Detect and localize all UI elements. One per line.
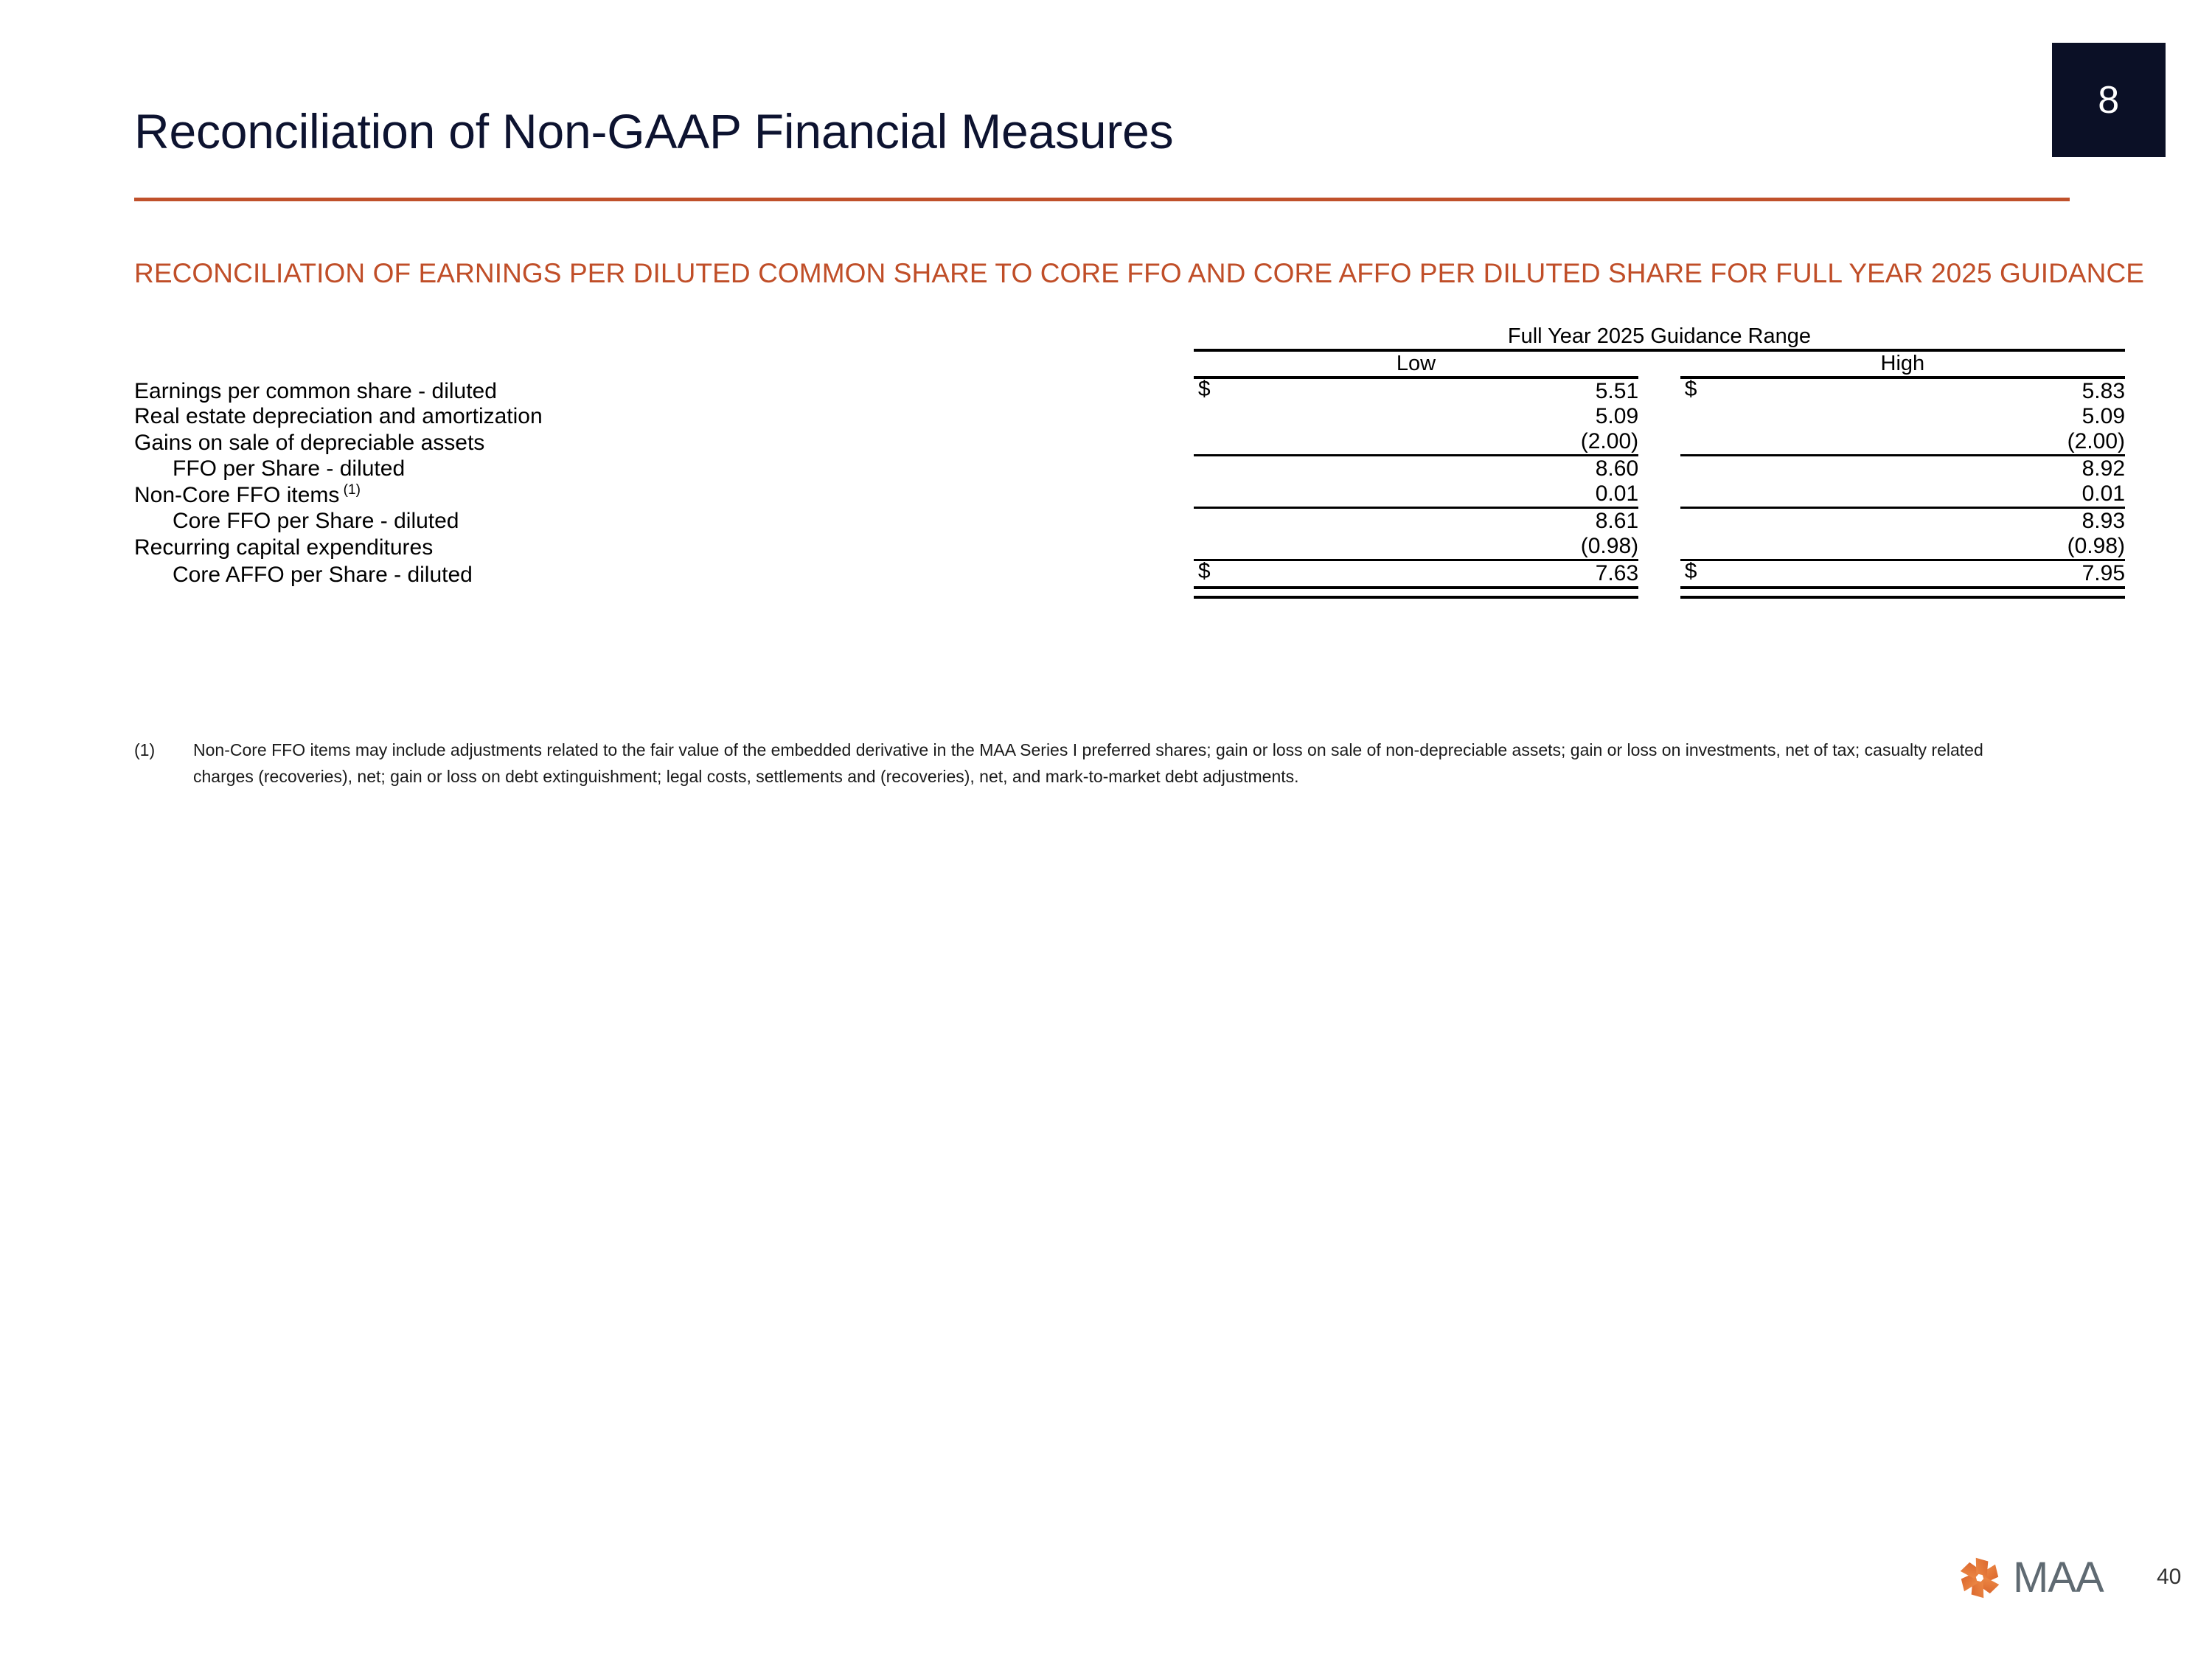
spacer — [1638, 378, 1680, 404]
maa-logo: MAA — [1954, 1552, 2104, 1604]
spacer — [1638, 508, 1680, 535]
cell-value: 5.09 — [2082, 404, 2125, 428]
spacer — [1638, 429, 1680, 456]
table-row: FFO per Share - diluted8.608.92 — [134, 456, 2125, 482]
cell-high: 5.09 — [1680, 404, 2125, 429]
cell-high: 0.01 — [1680, 481, 2125, 508]
footnote: (1) Non-Core FFO items may include adjus… — [134, 737, 2007, 790]
spacer — [1182, 456, 1194, 482]
currency-symbol: $ — [1198, 377, 1211, 402]
spacer — [1638, 404, 1680, 429]
cell-value: 5.51 — [1596, 379, 1638, 403]
row-label: Core FFO per Share - diluted — [134, 508, 1182, 535]
row-label: Earnings per common share - diluted — [134, 378, 1182, 404]
table-row: Gains on sale of depreciable assets(2.00… — [134, 429, 2125, 456]
cell-low: $7.63 — [1194, 560, 1638, 588]
table-row: Earnings per common share - diluted$5.51… — [134, 378, 2125, 404]
page-badge-number: 8 — [2098, 78, 2119, 122]
section-heading: RECONCILIATION OF EARNINGS PER DILUTED C… — [134, 258, 2144, 289]
cell-low: 0.01 — [1194, 481, 1638, 508]
table-body: Earnings per common share - diluted$5.51… — [134, 378, 2125, 597]
cell-low: $5.51 — [1194, 378, 1638, 404]
cell-value: 5.09 — [1596, 404, 1638, 428]
page-badge: 8 — [2052, 43, 2166, 157]
table-column-header-row: Low High — [134, 350, 2125, 378]
cell-high: 8.92 — [1680, 456, 2125, 482]
cell-value: 7.63 — [1596, 561, 1638, 585]
row-label: Core AFFO per Share - diluted — [134, 560, 1182, 588]
table-group-header-row: Full Year 2025 Guidance Range — [134, 324, 2125, 350]
cell-low: 8.60 — [1194, 456, 1638, 482]
spacer — [1638, 560, 1680, 588]
currency-symbol: $ — [1685, 377, 1697, 402]
cell-value: (0.98) — [2067, 534, 2125, 558]
footnote-marker: (1) — [134, 737, 155, 764]
reconciliation-table: Full Year 2025 Guidance Range Low High E… — [134, 324, 2125, 599]
cell-value: (0.98) — [1581, 534, 1638, 558]
table-group-header: Full Year 2025 Guidance Range — [1194, 324, 2125, 350]
slide-root: 8 Reconciliation of Non-GAAP Financial M… — [0, 0, 2212, 1659]
cell-value: 7.95 — [2082, 561, 2125, 585]
table-row: Non-Core FFO items (1)0.010.01 — [134, 481, 2125, 508]
spacer — [1182, 378, 1194, 404]
footnote-reference: (1) — [339, 482, 361, 498]
spacer — [1182, 429, 1194, 456]
spacer — [1182, 560, 1194, 588]
page-title: Reconciliation of Non-GAAP Financial Mea… — [134, 103, 1173, 159]
spacer — [1182, 534, 1194, 560]
page-number: 40 — [2157, 1565, 2181, 1590]
spacer — [1182, 404, 1194, 429]
cell-high: $5.83 — [1680, 378, 2125, 404]
spacer — [1182, 481, 1194, 508]
row-label: Recurring capital expenditures — [134, 534, 1182, 560]
maa-flower-icon — [1954, 1552, 2006, 1604]
cell-value: (2.00) — [2067, 429, 2125, 453]
column-header-low: Low — [1194, 350, 1638, 378]
table-row: Real estate depreciation and amortizatio… — [134, 404, 2125, 429]
cell-value: 8.93 — [2082, 509, 2125, 533]
cell-value: 8.60 — [1596, 456, 1638, 481]
table-row: Recurring capital expenditures(0.98)(0.9… — [134, 534, 2125, 560]
row-label: Real estate depreciation and amortizatio… — [134, 404, 1182, 429]
cell-high: 8.93 — [1680, 508, 2125, 535]
cell-value: 5.83 — [2082, 379, 2125, 403]
row-label: Gains on sale of depreciable assets — [134, 429, 1182, 456]
currency-symbol: $ — [1198, 559, 1211, 584]
spacer — [1638, 481, 1680, 508]
cell-value: (2.00) — [1581, 429, 1638, 453]
table-row: Core AFFO per Share - diluted$7.63$7.95 — [134, 560, 2125, 588]
cell-high: (0.98) — [1680, 534, 2125, 560]
cell-low: (0.98) — [1194, 534, 1638, 560]
spacer — [1638, 534, 1680, 560]
cell-high: (2.00) — [1680, 429, 2125, 456]
row-label: FFO per Share - diluted — [134, 456, 1182, 482]
cell-low: (2.00) — [1194, 429, 1638, 456]
cell-high: $7.95 — [1680, 560, 2125, 588]
title-divider — [134, 198, 2070, 201]
table-total-double-rule — [134, 588, 2125, 597]
cell-low: 5.09 — [1194, 404, 1638, 429]
cell-value: 0.01 — [1596, 481, 1638, 506]
cell-value: 0.01 — [2082, 481, 2125, 506]
column-header-high: High — [1680, 350, 2125, 378]
table-row: Core FFO per Share - diluted8.618.93 — [134, 508, 2125, 535]
cell-low: 8.61 — [1194, 508, 1638, 535]
spacer — [1638, 456, 1680, 482]
spacer — [1182, 508, 1194, 535]
cell-value: 8.92 — [2082, 456, 2125, 481]
maa-wordmark: MAA — [2013, 1557, 2104, 1599]
cell-value: 8.61 — [1596, 509, 1638, 533]
row-label: Non-Core FFO items (1) — [134, 481, 1182, 508]
currency-symbol: $ — [1685, 559, 1697, 584]
footnote-text: Non-Core FFO items may include adjustmen… — [193, 737, 2007, 790]
